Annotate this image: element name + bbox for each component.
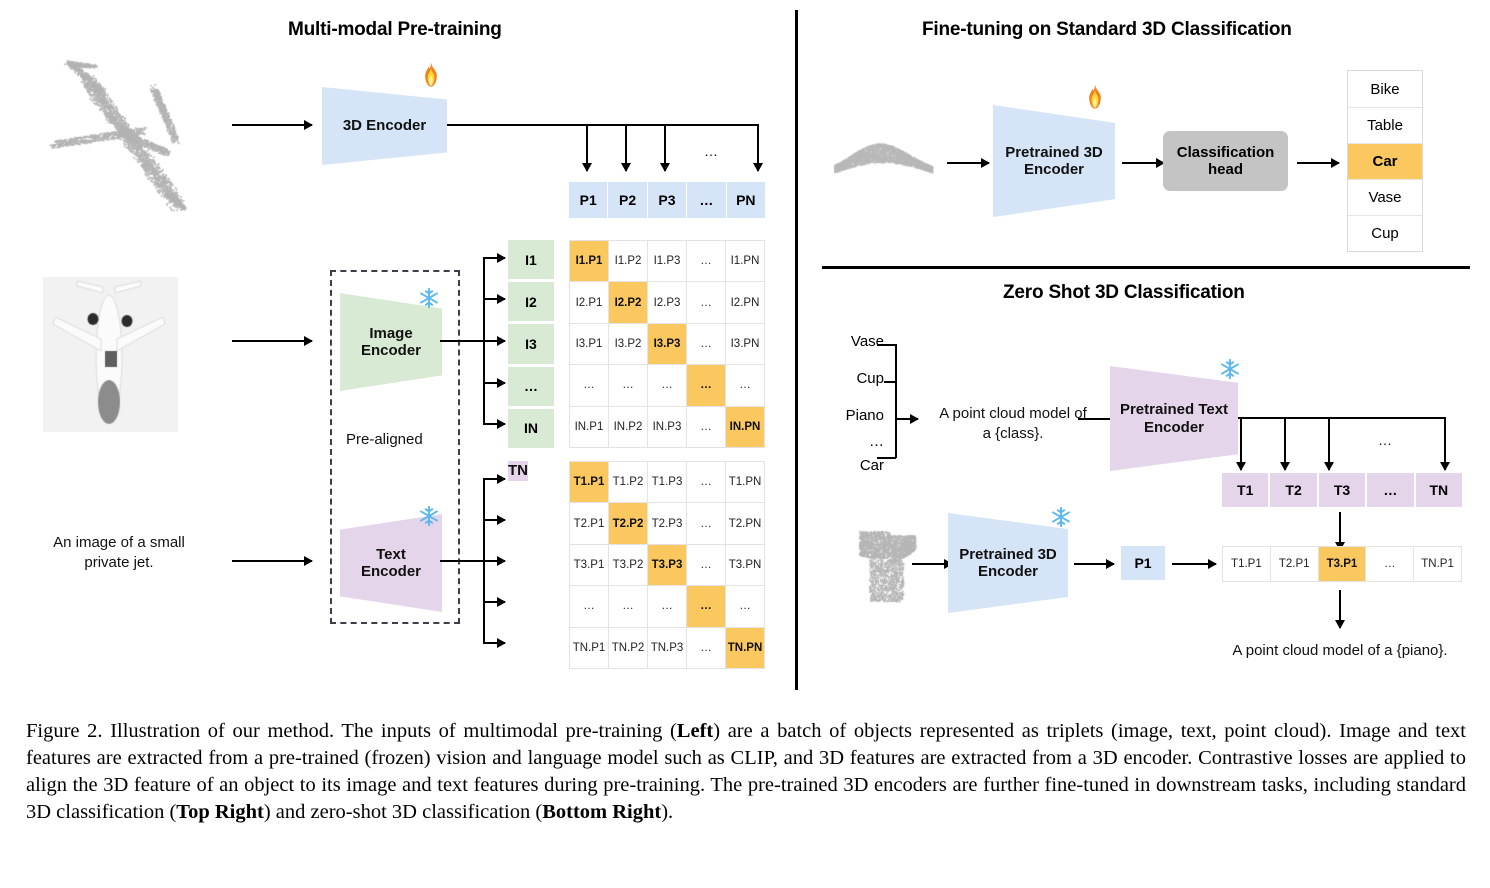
point-cloud-car: [828, 132, 938, 192]
matrix-cell-4-4: IN.PN: [726, 407, 764, 447]
snowflake-icon: [1050, 506, 1072, 528]
image-similarity-matrix: I1.P1I1.P2I1.P3…I1.PNI2.P1I2.P2I2.P3…I2.…: [569, 240, 765, 448]
matrix-cell-1-1: T2.P2: [609, 503, 647, 543]
encoder-3d-label: 3D Encoder: [343, 117, 426, 134]
matrix-cell-1-3: …: [687, 282, 725, 322]
encoder-3d-block: 3D Encoder: [322, 87, 447, 165]
pretrained-3d-encoder-label-zs: Pretrained 3D Encoder: [959, 546, 1057, 581]
arrow-scores-to-result: [1339, 590, 1341, 628]
point-cloud-piano: [855, 525, 925, 605]
pretrained-text-encoder-label: Pretrained Text Encoder: [1120, 401, 1228, 436]
matrix-cell-1-2: I2.P3: [648, 282, 686, 322]
pretrained-3d-encoder-block-zs: Pretrained 3D Encoder: [948, 513, 1068, 613]
arrow-encoder-to-head: [1122, 162, 1164, 164]
pretrained-3d-encoder-block-ft: Pretrained 3D Encoder: [993, 105, 1115, 217]
p-row-ellipsis: …: [694, 142, 728, 160]
matrix-cell-3-3: …: [687, 586, 725, 626]
matrix-cell-3-2: …: [648, 365, 686, 405]
t-row-ellipsis-zs: …: [1368, 431, 1402, 449]
matrix-cell-0-1: I1.P2: [609, 241, 647, 281]
arrow-t1: [483, 478, 505, 480]
text-input-caption: An image of a small private jet.: [24, 533, 214, 572]
matrix-cell-0-0: T1.P1: [570, 462, 608, 502]
arrow-text-to-encoder: [232, 560, 312, 562]
vertical-divider: [795, 10, 798, 690]
arrow-to-t1-zs: [1240, 417, 1242, 470]
p-feature-row: P1P2P3…PN: [569, 182, 765, 218]
class-item-cup[interactable]: Cup: [1348, 215, 1422, 251]
matrix-cell-3-2: …: [648, 586, 686, 626]
pretrained-text-encoder-block: Pretrained Text Encoder: [1110, 366, 1238, 471]
zeroshot-class-3: …: [869, 433, 884, 450]
zs-score-cell-0: T1.P1: [1223, 547, 1270, 581]
matrix-cell-4-1: TN.P2: [609, 628, 647, 668]
matrix-cell-1-4: I2.PN: [726, 282, 764, 322]
point-cloud-airplane: [25, 52, 235, 222]
arrow-tn: [483, 642, 505, 644]
arrow-t4: [483, 601, 505, 603]
fire-icon: [1085, 84, 1105, 110]
zeroshot-text-feature-row: T1T2T3…TN: [1222, 473, 1462, 507]
brace-bottom: [877, 457, 896, 459]
zs-score-cell-4: TN.P1: [1414, 547, 1461, 581]
classification-head-label: Classification head: [1177, 144, 1275, 179]
arrow-to-p1: [586, 124, 588, 171]
class-item-bike[interactable]: Bike: [1348, 71, 1422, 107]
matrix-cell-4-0: TN.P1: [570, 628, 608, 668]
zeroshot-class-2: Piano: [846, 407, 884, 424]
snowflake-icon: [1219, 358, 1241, 380]
zs-score-cell-3: …: [1366, 547, 1413, 581]
matrix-cell-0-1: T1.P2: [609, 462, 647, 502]
zs-score-cell-1: T2.P1: [1271, 547, 1318, 581]
matrix-cell-0-0: I1.P1: [570, 241, 608, 281]
feature-label-I3: I3: [508, 324, 554, 363]
arrow-head-to-classes: [1297, 162, 1339, 164]
arrow-classes-to-prompt: [895, 418, 918, 420]
matrix-cell-1-1: I2.P2: [609, 282, 647, 322]
matrix-cell-1-0: T2.P1: [570, 503, 608, 543]
zs-t-cell-2: T3: [1319, 473, 1365, 507]
classification-head-block: Classification head: [1163, 131, 1288, 191]
snowflake-icon: [418, 505, 440, 527]
arrow-encoder-to-p1-zs: [1074, 563, 1114, 565]
matrix-cell-4-1: IN.P2: [609, 407, 647, 447]
prompt-template-text: A point cloud model of a {class}.: [918, 404, 1108, 443]
class-item-car[interactable]: Car: [1348, 143, 1422, 179]
matrix-cell-2-3: …: [687, 324, 725, 364]
matrix-cell-3-4: …: [726, 586, 764, 626]
prealigned-label: Pre-aligned: [346, 431, 423, 448]
figure-canvas: Multi-modal Pre-training Fine-tuning on …: [0, 0, 1490, 710]
matrix-cell-4-0: IN.P1: [570, 407, 608, 447]
matrix-cell-2-3: …: [687, 545, 725, 585]
zs-score-cell-2: T3.P1: [1319, 547, 1366, 581]
p1-feature-block: P1: [1121, 546, 1165, 580]
matrix-cell-4-2: TN.P3: [648, 628, 686, 668]
zeroshot-result-text: A point cloud model of a {piano}.: [1195, 641, 1485, 661]
image-feature-labels: I1I2I3…IN: [508, 240, 554, 448]
zeroshot-class-list: VaseCupPiano…Car: [824, 333, 884, 468]
matrix-cell-4-3: …: [687, 407, 725, 447]
brace-spine: [895, 344, 897, 458]
arrow-in: [483, 423, 505, 425]
matrix-cell-0-4: T1.PN: [726, 462, 764, 502]
matrix-cell-2-2: I3.P3: [648, 324, 686, 364]
fire-icon: [421, 62, 441, 88]
arrow-to-t3-zs: [1328, 417, 1330, 470]
feature-label-IN: IN: [508, 409, 554, 448]
arrow-pointcloud-to-3dencoder: [232, 124, 312, 126]
arrow-to-pn: [757, 124, 759, 171]
matrix-cell-0-3: …: [687, 241, 725, 281]
zs-t-cell-1: T2: [1270, 473, 1316, 507]
arrow-to-p2: [625, 124, 627, 171]
zeroshot-score-row: T1.P1T2.P1T3.P1…TN.P1: [1222, 546, 1462, 582]
arrow-p1-to-scores: [1172, 563, 1216, 565]
feature-label-TN: TN: [508, 461, 528, 481]
text-input-value: An image of a small private jet.: [53, 534, 185, 571]
arrow-i4: [483, 382, 505, 384]
zeroshot-class-4: Car: [860, 457, 884, 474]
matrix-cell-3-1: …: [609, 365, 647, 405]
class-prediction-list[interactable]: BikeTableCarVaseCup: [1347, 70, 1423, 252]
matrix-cell-2-0: T3.P1: [570, 545, 608, 585]
matrix-cell-4-4: TN.PN: [726, 628, 764, 668]
feature-label-I2: I2: [508, 282, 554, 321]
matrix-cell-3-0: …: [570, 365, 608, 405]
p-cell-0: P1: [569, 182, 607, 218]
matrix-cell-4-2: IN.P3: [648, 407, 686, 447]
matrix-cell-4-3: …: [687, 628, 725, 668]
p-cell-3: …: [687, 182, 725, 218]
pretrained-3d-encoder-label-ft: Pretrained 3D Encoder: [1005, 144, 1103, 179]
matrix-cell-3-3: …: [687, 365, 725, 405]
brace-top: [877, 344, 896, 346]
matrix-cell-3-1: …: [609, 586, 647, 626]
text-encoder-bus: [440, 560, 484, 562]
arrow-t3: [483, 560, 505, 562]
matrix-cell-1-2: T2.P3: [648, 503, 686, 543]
matrix-cell-1-0: I2.P1: [570, 282, 608, 322]
matrix-cell-0-2: I1.P3: [648, 241, 686, 281]
arrow-i3: [483, 340, 505, 342]
panel-title-top-right: Fine-tuning on Standard 3D Classificatio…: [922, 19, 1292, 41]
arrow-trow-to-scores: [1339, 512, 1341, 550]
p-cell-2: P3: [648, 182, 686, 218]
prompt-template-value: A point cloud model of a {class}.: [939, 405, 1087, 442]
arrow-to-tn-zs: [1444, 417, 1446, 470]
bus-line-3dencoder: [447, 124, 759, 126]
figure-caption: Figure 2. Illustration of our method. Th…: [26, 718, 1466, 826]
arrow-to-t2-zs: [1284, 417, 1286, 470]
arrow-i1: [483, 257, 505, 259]
text-feature-labels: T1T2T3…TN: [508, 461, 554, 669]
text-encoder-block: Text Encoder: [340, 514, 442, 612]
class-item-table[interactable]: Table: [1348, 107, 1422, 143]
arrow-t2: [483, 519, 505, 521]
textencoder-bus: [1238, 417, 1446, 419]
arrow-piano-to-encoder: [912, 563, 952, 565]
panel-title-left: Multi-modal Pre-training: [288, 19, 502, 41]
class-item-vase[interactable]: Vase: [1348, 179, 1422, 215]
matrix-cell-2-1: I3.P2: [609, 324, 647, 364]
arrow-image-to-encoder: [232, 340, 312, 342]
feature-label-…: …: [508, 367, 554, 406]
image-encoder-label: Image Encoder: [361, 325, 421, 360]
horizontal-divider: [822, 266, 1470, 269]
matrix-cell-0-2: T1.P3: [648, 462, 686, 502]
zeroshot-class-0: Vase: [851, 333, 884, 350]
matrix-cell-2-4: I3.PN: [726, 324, 764, 364]
matrix-cell-0-3: …: [687, 462, 725, 502]
matrix-cell-2-4: T3.PN: [726, 545, 764, 585]
arrow-car-to-encoder: [947, 162, 989, 164]
matrix-cell-2-0: I3.P1: [570, 324, 608, 364]
brace-mid1: [884, 381, 896, 383]
matrix-cell-3-4: …: [726, 365, 764, 405]
arrow-i2: [483, 298, 505, 300]
arrow-to-p3: [664, 124, 666, 171]
feature-label-I1: I1: [508, 240, 554, 279]
matrix-cell-1-3: …: [687, 503, 725, 543]
zeroshot-class-1: Cup: [856, 370, 884, 387]
zs-t-cell-4: TN: [1416, 473, 1462, 507]
matrix-cell-3-0: …: [570, 586, 608, 626]
image-encoder-bus: [440, 340, 484, 342]
text-similarity-matrix: T1.P1T1.P2T1.P3…T1.PNT2.P1T2.P2T2.P3…T2.…: [569, 461, 765, 669]
text-encoder-label: Text Encoder: [361, 546, 421, 581]
p-cell-1: P2: [608, 182, 646, 218]
image-input-photo: [43, 277, 178, 432]
matrix-cell-2-2: T3.P3: [648, 545, 686, 585]
matrix-cell-0-4: I1.PN: [726, 241, 764, 281]
matrix-cell-1-4: T2.PN: [726, 503, 764, 543]
zs-t-cell-0: T1: [1222, 473, 1268, 507]
matrix-cell-2-1: T3.P2: [609, 545, 647, 585]
panel-title-bottom-right: Zero Shot 3D Classification: [1003, 282, 1245, 304]
p-cell-4: PN: [727, 182, 765, 218]
snowflake-icon: [418, 287, 440, 309]
zs-t-cell-3: …: [1367, 473, 1413, 507]
